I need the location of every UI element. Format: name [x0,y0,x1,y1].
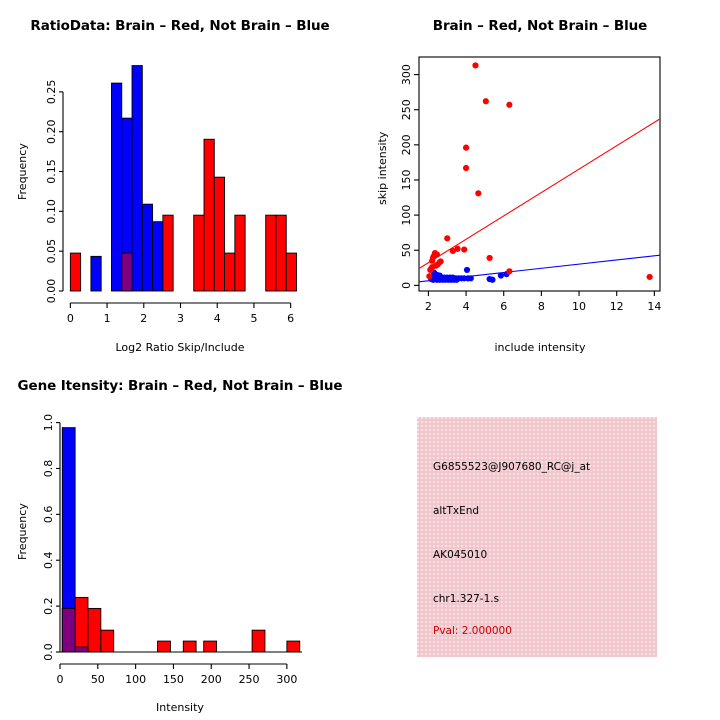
gene-hist-x-tick-label: 0 [57,673,64,686]
ratio-hist-bar-notbrain [142,204,152,291]
scatter-group: 0501001502002503002468101214 [400,57,661,313]
scatter-y-tick-label: 200 [400,134,413,155]
annotation-info-box: G6855523@J907680_RC@j_at altTxEnd AK0450… [417,417,657,657]
scatter-y-tick-label: 150 [400,169,413,190]
gene-intensity-histogram-plot: 0.00.20.40.60.81.0050100150200250300 [0,360,360,720]
panel-intensity-scatter: Brain – Red, Not Brain – Blue include in… [360,0,720,360]
accession-text: AK045010 [433,549,487,561]
scatter-y-axis-label: skip intensity [376,132,389,205]
ratio-hist-bar-notbrain [132,66,142,291]
gene-hist-bar-brain [88,608,101,652]
gene-hist-x-tick-label: 200 [201,673,222,686]
scatter-point-brain [426,273,432,279]
gene-hist-x-axis-label: Intensity [0,701,360,714]
ratio-hist-x-tick-label: 2 [140,312,147,325]
ratio-hist-x-axis-label: Log2 Ratio Skip/Include [0,341,360,354]
ratio-hist-y-tick-label: 0.15 [45,159,58,184]
scatter-x-tick-label: 10 [572,300,586,313]
gene-hist-bar-brain [252,630,265,652]
locus-text: chr1.327-1.s [433,593,499,605]
scatter-y-tick-label: 100 [400,205,413,226]
scatter-plot-frame [419,57,660,291]
scatter-point-brain [444,235,450,241]
scatter-y-tick-label: 50 [400,243,413,257]
gene-hist-x-tick-label: 250 [239,673,260,686]
ratio-hist-bar-notbrain [91,256,101,291]
scatter-point-brain [427,267,433,273]
panel-scatter-title: Brain – Red, Not Brain – Blue [360,18,720,34]
ratio-hist-x-tick-label: 6 [287,312,294,325]
ratio-hist-x-tick-label: 5 [250,312,257,325]
scatter-point-brain [506,102,512,108]
scatter-point-brain [647,274,653,280]
gene-hist-x-tick-label: 300 [276,673,297,686]
gene-hist-y-tick-label: 0.4 [42,551,55,569]
gene-hist-bar-overlap [75,647,88,652]
gene-hist-bar-brain [75,597,88,652]
scatter-point-brain [506,268,512,274]
scatter-x-tick-label: 2 [425,300,432,313]
ratio-hist-y-tick-label: 0.05 [45,239,58,264]
gene-hist-group: 0.00.20.40.60.81.0050100150200250300 [42,414,302,686]
ratio-hist-y-tick-label: 0.10 [45,199,58,224]
scatter-point-brain [483,98,489,104]
scatter-point-brain [429,258,435,264]
panel-ratio-histogram-title: RatioData: Brain – Red, Not Brain – Blue [0,18,360,34]
gene-hist-y-axis-label: Frequency [16,503,29,560]
ratio-hist-x-tick-label: 3 [177,312,184,325]
ratio-hist-y-axis-label: Frequency [16,143,29,200]
scatter-point-notbrain [464,267,470,273]
panel-annotation-info: G6855523@J907680_RC@j_at altTxEnd AK0450… [360,360,720,720]
scatter-y-tick-label: 300 [400,64,413,85]
ratio-hist-y-tick-label: 0.20 [45,119,58,144]
scatter-point-notbrain [498,272,504,278]
gene-hist-y-tick-label: 1.0 [42,414,55,432]
scatter-x-tick-label: 6 [500,300,507,313]
ratio-histogram-plot: 0.000.050.100.150.200.250123456 [0,0,360,360]
ratio-hist-bar-brain [286,253,296,291]
panel-gene-hist-title: Gene Itensity: Brain – Red, Not Brain – … [0,378,360,394]
gene-hist-bar-overlap [62,608,75,652]
gene-hist-bar-brain [158,641,171,652]
ratio-hist-bar-brain [204,139,214,291]
scatter-point-brain [487,255,493,261]
ratio-hist-group: 0.000.050.100.150.200.250123456 [45,66,297,325]
scatter-trend-line [419,119,660,269]
ratio-hist-bar-brain [70,253,80,291]
plot-canvas: RatioData: Brain – Red, Not Brain – Blue… [0,0,720,720]
scatter-point-notbrain [489,277,495,283]
ratio-hist-x-tick-label: 0 [67,312,74,325]
ratio-hist-bar-brain [214,177,224,291]
gene-hist-bar-brain [101,630,114,652]
scatter-x-tick-label: 4 [463,300,470,313]
gene-hist-bar-brain [287,641,300,652]
gene-hist-x-tick-label: 50 [91,673,105,686]
ratio-hist-bar-notbrain [153,222,163,291]
scatter-point-notbrain [454,277,460,283]
scatter-point-brain [463,145,469,151]
scatter-point-brain [461,246,467,252]
scatter-x-tick-label: 12 [610,300,624,313]
scatter-x-tick-label: 8 [538,300,545,313]
ratio-hist-bar-brain [163,215,173,291]
probe-id-text: G6855523@J907680_RC@j_at [433,461,590,473]
scatter-x-tick-label: 14 [647,300,661,313]
scatter-point-brain [475,190,481,196]
scatter-y-tick-label: 250 [400,99,413,120]
ratio-hist-x-tick-label: 4 [214,312,221,325]
scatter-point-notbrain [468,275,474,281]
ratio-hist-y-tick-label: 0.25 [45,80,58,105]
gene-hist-y-tick-label: 0.6 [42,506,55,523]
scatter-y-tick-label: 0 [400,282,413,289]
scatter-inner [419,62,660,283]
ratio-hist-bar-brain [225,253,235,291]
gene-hist-bar-brain [183,641,196,652]
gene-hist-y-tick-label: 0.8 [42,460,55,478]
scatter-point-brain [463,165,469,171]
panel-gene-intensity-histogram: Gene Itensity: Brain – Red, Not Brain – … [0,360,360,720]
ratio-hist-bar-brain [266,215,276,291]
ratio-hist-bar-notbrain [111,83,121,291]
ratio-hist-bar-brain [276,215,286,291]
ratio-hist-y-tick-label: 0.00 [45,279,58,304]
pval-text: Pval: 2.000000 [433,625,512,637]
gene-hist-y-tick-label: 0.2 [42,597,55,615]
ratio-hist-x-tick-label: 1 [104,312,111,325]
gene-hist-y-tick-label: 0.0 [42,643,55,661]
intensity-scatter-plot: 0501001502002503002468101214 [360,0,720,360]
scatter-x-axis-label: include intensity [360,341,720,354]
gene-hist-x-tick-label: 150 [163,673,184,686]
ratio-hist-bar-brain [194,215,204,291]
panel-ratio-histogram: RatioData: Brain – Red, Not Brain – Blue… [0,0,360,360]
gene-hist-x-tick-label: 100 [125,673,146,686]
scatter-point-brain [472,62,478,68]
scatter-point-brain [450,248,456,254]
ratio-hist-bar-brain [235,215,245,291]
ratio-hist-bar-overlap [122,253,132,291]
gene-hist-bar-brain [204,641,217,652]
event-type-text: altTxEnd [433,505,479,517]
